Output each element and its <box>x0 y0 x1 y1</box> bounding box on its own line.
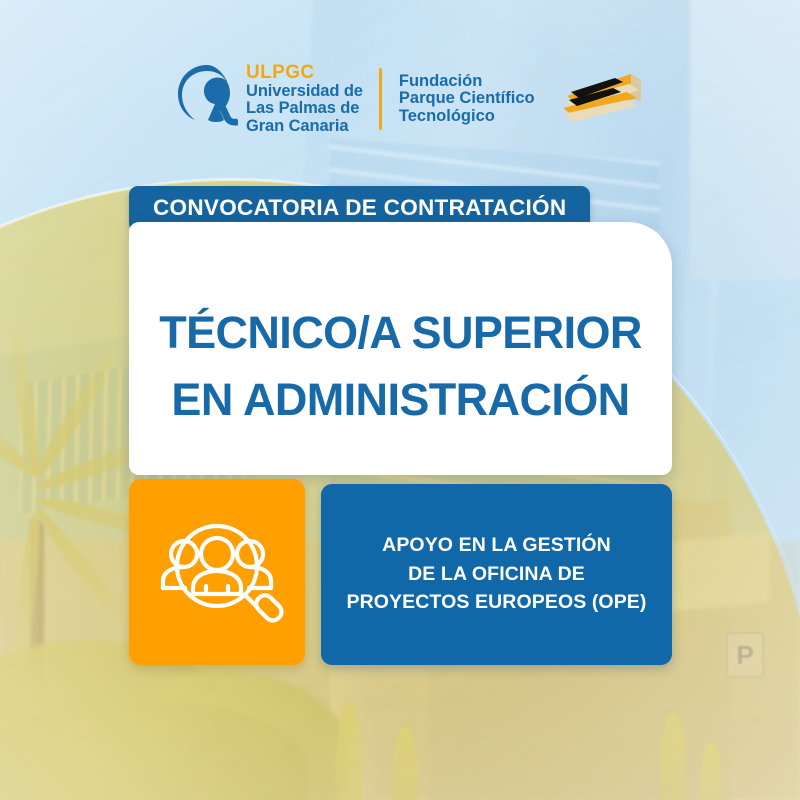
people-search-magnifier-icon <box>149 512 285 632</box>
fpct-wordmark: Fundación Parque Científico Tecnológico <box>399 73 535 126</box>
logo-bar: ULPGC Universidad de Las Palmas de Gran … <box>176 62 645 136</box>
job-description-card: APOYO EN LA GESTIÓN DE LA OFICINA DE PRO… <box>321 484 672 665</box>
recruitment-icon-card <box>129 479 305 665</box>
job-title-line-2: EN ADMINISTRACIÓN <box>171 377 629 422</box>
ulpgc-acronym: ULPGC <box>246 63 363 83</box>
fpct-line-1: Fundación <box>399 73 535 91</box>
ulpgc-line-1: Universidad de <box>246 83 363 101</box>
job-title-card: TÉCNICO/A SUPERIOR EN ADMINISTRACIÓN <box>129 222 672 475</box>
ulpgc-line-2: Las Palmas de <box>246 100 363 118</box>
ulpgc-line-3: Gran Canaria <box>246 118 363 136</box>
fpct-line-2: Parque Científico <box>399 90 535 108</box>
fpct-line-3: Tecnológico <box>399 108 535 126</box>
job-title-line-1: TÉCNICO/A SUPERIOR <box>159 310 642 355</box>
description-line-2: DE LA OFICINA DE <box>408 565 585 585</box>
ulpgc-q-wave-logo-icon <box>176 62 238 136</box>
description-line-1: APOYO EN LA GESTIÓN <box>382 536 611 556</box>
logo-divider <box>379 68 382 130</box>
poster-canvas: ULPGC Universidad de Las Palmas de Gran … <box>0 0 800 800</box>
description-line-3: PROYECTOS EUROPEOS (OPE) <box>346 593 646 613</box>
fpct-angular-stripes-logo-icon <box>557 68 645 130</box>
ulpgc-wordmark: ULPGC Universidad de Las Palmas de Gran … <box>246 63 363 136</box>
